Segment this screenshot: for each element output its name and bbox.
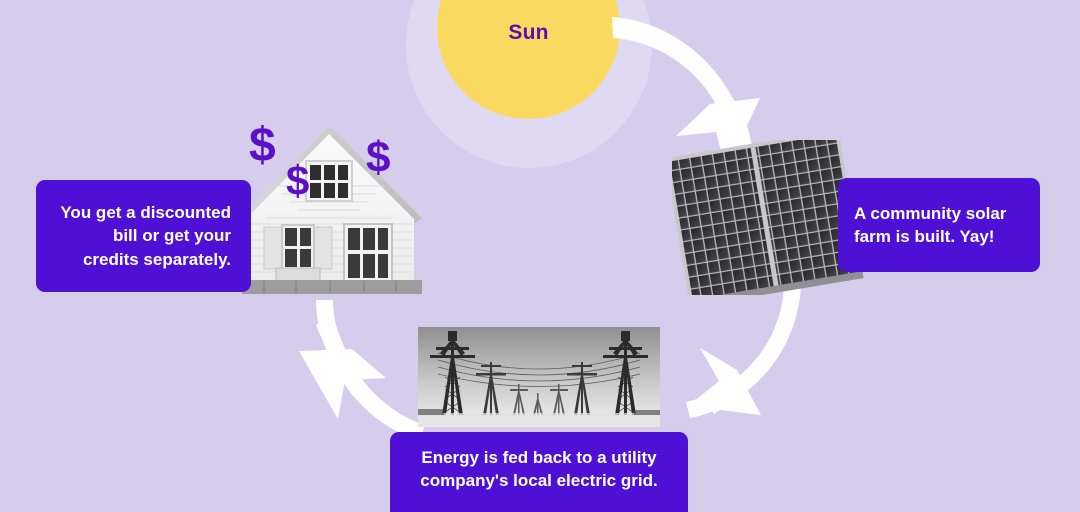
sun-label: Sun: [437, 21, 620, 45]
arrow-grid-to-house: [299, 300, 425, 441]
callout-grid-line-1: Energy is fed back to a utility: [406, 446, 672, 469]
callout-savings-line-3: credits separately.: [50, 248, 231, 271]
callout-grid[interactable]: Energy is fed back to a utility company'…: [390, 432, 688, 512]
power-transmission-towers-image: [418, 327, 660, 427]
diagram-canvas: Sun: [0, 0, 1080, 505]
callout-solar-farm[interactable]: A community solar farm is built. Yay!: [838, 178, 1040, 272]
callout-solar-farm-line-1: A community solar: [854, 202, 1024, 225]
callout-savings[interactable]: You get a discounted bill or get your cr…: [36, 180, 251, 292]
callout-grid-line-2: company's local electric grid.: [406, 469, 672, 492]
dollar-sign-icon: $: [366, 136, 390, 180]
dollar-sign-icon: $: [249, 122, 276, 170]
callout-savings-line-1: You get a discounted: [50, 201, 231, 224]
dollar-sign-icon: $: [286, 160, 309, 202]
callout-savings-line-2: bill or get your: [50, 224, 231, 247]
callout-solar-farm-line-2: farm is built. Yay!: [854, 225, 1024, 248]
arrow-solar-panel-to-grid: [686, 283, 801, 418]
